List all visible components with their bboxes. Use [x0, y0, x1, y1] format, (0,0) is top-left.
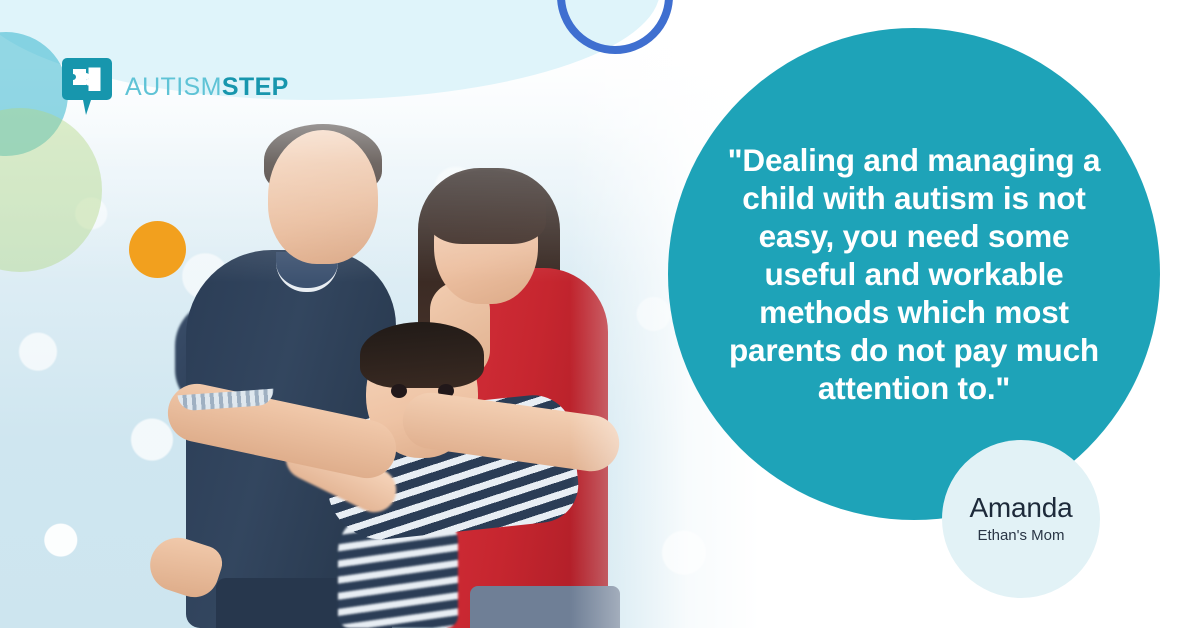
- testimonial-banner: AUTISMSTEP "Dealing and managing a child…: [0, 0, 1200, 628]
- quote-text: "Dealing and managing a child with autis…: [714, 141, 1114, 407]
- attribution-role: Ethan's Mom: [977, 526, 1064, 546]
- puzzle-speech-bubble-icon: [62, 58, 112, 116]
- quote-circle: "Dealing and managing a child with autis…: [668, 28, 1160, 520]
- logo-word-autism: AUTISM: [125, 73, 222, 101]
- logo-wordmark: AUTISMSTEP: [125, 74, 289, 100]
- logo-word-step: STEP: [222, 73, 289, 101]
- attribution-circle: Amanda Ethan's Mom: [942, 440, 1100, 598]
- autismstep-logo[interactable]: AUTISMSTEP: [62, 58, 289, 116]
- attribution-name: Amanda: [969, 492, 1072, 524]
- orange-dot-shape: [129, 221, 186, 278]
